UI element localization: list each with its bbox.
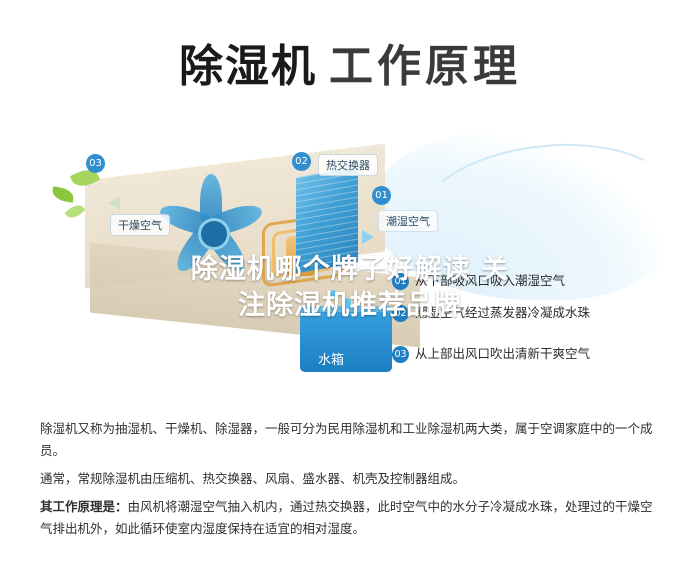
body-copy: 除湿机又称为抽湿机、干燥机、除湿器，一般可分为民用除湿机和工业除湿机两大类，属于… (40, 418, 660, 546)
body-paragraph-1: 除湿机又称为抽湿机、干燥机、除湿器，一般可分为民用除湿机和工业除湿机两大类，属于… (40, 418, 660, 462)
label-dry-air: 干燥空气 (110, 214, 170, 236)
water-tank-label: 水箱 (318, 349, 344, 368)
annotation-number: 02 (392, 305, 409, 322)
title-part-1: 除湿机 (179, 41, 317, 92)
annotation-number: 01 (392, 273, 409, 290)
marker-03-left: 03 (86, 154, 105, 173)
page-root: 除湿机工作原理 水箱 03 02 (0, 0, 700, 566)
machine-base (163, 286, 287, 342)
heat-exchanger-block (296, 167, 358, 274)
annotation-item-02: 02潮湿空气经过蒸发器冷凝成水珠 (392, 302, 590, 322)
heat-exchanger-fins (296, 167, 358, 274)
marker-02: 02 (292, 152, 311, 171)
dry-air-arrow-icon (108, 196, 120, 210)
annotation-text: 潮湿空气经过蒸发器冷凝成水珠 (415, 305, 590, 320)
annotation-item-03: 03从上部出风口吹出清新干爽空气 (392, 343, 590, 363)
water-tank (300, 306, 392, 372)
humid-air-arrow-icon (362, 230, 374, 244)
body-paragraph-3: 其工作原理是：由风机将潮湿空气抽入机内，通过热交换器，此时空气中的水分子冷凝成水… (40, 496, 660, 540)
principle-lead: 其工作原理是： (40, 499, 128, 514)
annotation-number: 03 (392, 346, 409, 363)
water-droplet-icon (330, 290, 337, 299)
leaf-icon (51, 186, 75, 203)
fan-hub (198, 218, 230, 250)
principle-illustration: 水箱 03 02 01 干燥空气 热交换器 潮湿空气 01从下部吸风口吸入潮湿空… (0, 110, 700, 400)
leaf-icon (65, 202, 86, 222)
label-humid-air: 潮湿空气 (378, 210, 438, 232)
annotation-text: 从下部吸风口吸入潮湿空气 (415, 273, 565, 288)
body-paragraph-2: 通常，常规除湿机由压缩机、热交换器、风扇、盛水器、机壳及控制器组成。 (40, 468, 660, 490)
principle-text: 由风机将潮湿空气抽入机内，通过热交换器，此时空气中的水分子冷凝成水珠，处理过的干… (40, 499, 653, 536)
annotation-item-01: 01从下部吸风口吸入潮湿空气 (392, 270, 565, 290)
title-part-2: 工作原理 (329, 41, 521, 92)
water-droplet-icon (344, 298, 351, 307)
marker-01: 01 (372, 186, 391, 205)
annotation-text: 从上部出风口吹出清新干爽空气 (415, 346, 590, 361)
label-heat-exchanger: 热交换器 (318, 154, 378, 176)
page-title: 除湿机工作原理 (0, 30, 700, 94)
